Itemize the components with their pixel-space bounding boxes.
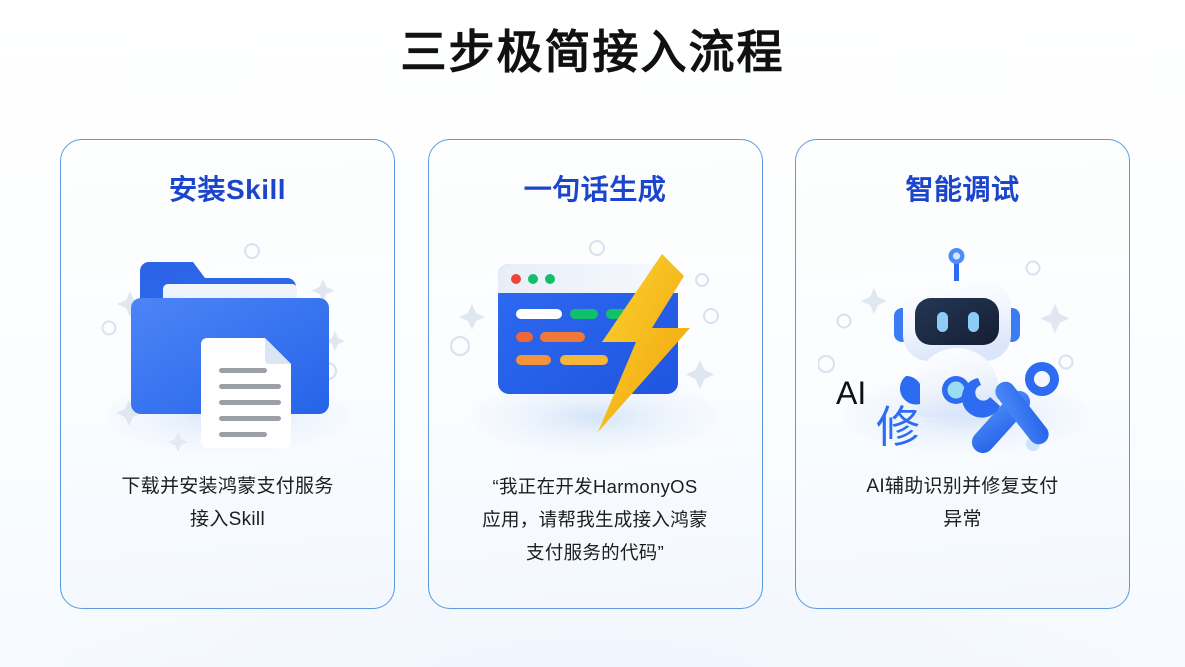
ai-label: AI: [836, 375, 866, 411]
repair-label: 修: [876, 402, 920, 453]
card-one-sentence-generate[interactable]: 一句话生成: [428, 139, 763, 609]
code-window-lightning-icon: [450, 236, 740, 466]
card-caption-install-skill: 下载并安装鸿蒙支付服务 接入Skill: [85, 470, 370, 536]
folder-document-illustration: [61, 236, 394, 486]
document: [201, 338, 291, 448]
robot-tools-icon: AI 修: [818, 236, 1108, 466]
card-title-smart-debug: 智能调试: [796, 170, 1129, 210]
robot-tools-illustration: AI 修: [796, 236, 1129, 486]
card-smart-debug[interactable]: 智能调试: [795, 139, 1130, 609]
traffic-lights: [511, 274, 555, 284]
page-title: 三步极简接入流程: [0, 20, 1185, 84]
code-window-lightning-illustration: [429, 236, 762, 486]
robot-eye-right: [968, 312, 979, 332]
card-title-one-sentence-generate: 一句话生成: [429, 170, 762, 210]
card-caption-smart-debug: AI辅助识别并修复支付 异常: [820, 470, 1105, 536]
slide-root: 三步极简接入流程 安装Skill: [0, 0, 1185, 667]
card-title-install-skill: 安装Skill: [61, 170, 394, 210]
cards-row: 安装Skill: [60, 139, 1130, 609]
folder-document-icon: [83, 236, 373, 466]
card-install-skill[interactable]: 安装Skill: [60, 139, 395, 609]
robot-eye-left: [937, 312, 948, 332]
card-caption-one-sentence-generate: “我正在开发HarmonyOS 应用，请帮我生成接入鸿蒙 支付服务的代码”: [453, 470, 738, 569]
